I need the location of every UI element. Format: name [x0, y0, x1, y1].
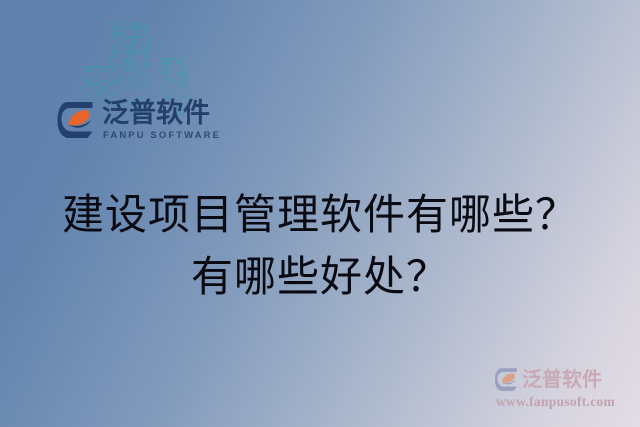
watermark-url: www.fanpusoft.com	[496, 394, 636, 410]
headline-line-1: 建设项目管理软件有哪些？	[0, 184, 640, 246]
watermark-brand-name: 泛普软件	[522, 368, 602, 390]
watermark-brand-row: 泛普软件	[494, 366, 636, 392]
fanpu-hexagon-swoosh-icon	[56, 100, 96, 140]
headline: 建设项目管理软件有哪些？ 有哪些好处？	[0, 184, 640, 308]
brand-logo: 泛普软件 FANPU SOFTWARE	[56, 99, 204, 155]
pixel-skyline-icon	[84, 22, 192, 110]
brand-logo-text: 泛普软件 FANPU SOFTWARE	[102, 99, 221, 142]
brand-name-en: FANPU SOFTWARE	[103, 130, 221, 142]
headline-line-2: 有哪些好处？	[0, 246, 640, 308]
fanpu-hexagon-swoosh-icon	[494, 367, 519, 392]
brand-name-cn: 泛普软件	[102, 99, 221, 129]
watermark: 泛普软件 www.fanpusoft.com	[494, 366, 636, 416]
promo-banner: 泛普软件 FANPU SOFTWARE 建设项目管理软件有哪些？ 有哪些好处？ …	[0, 0, 640, 427]
